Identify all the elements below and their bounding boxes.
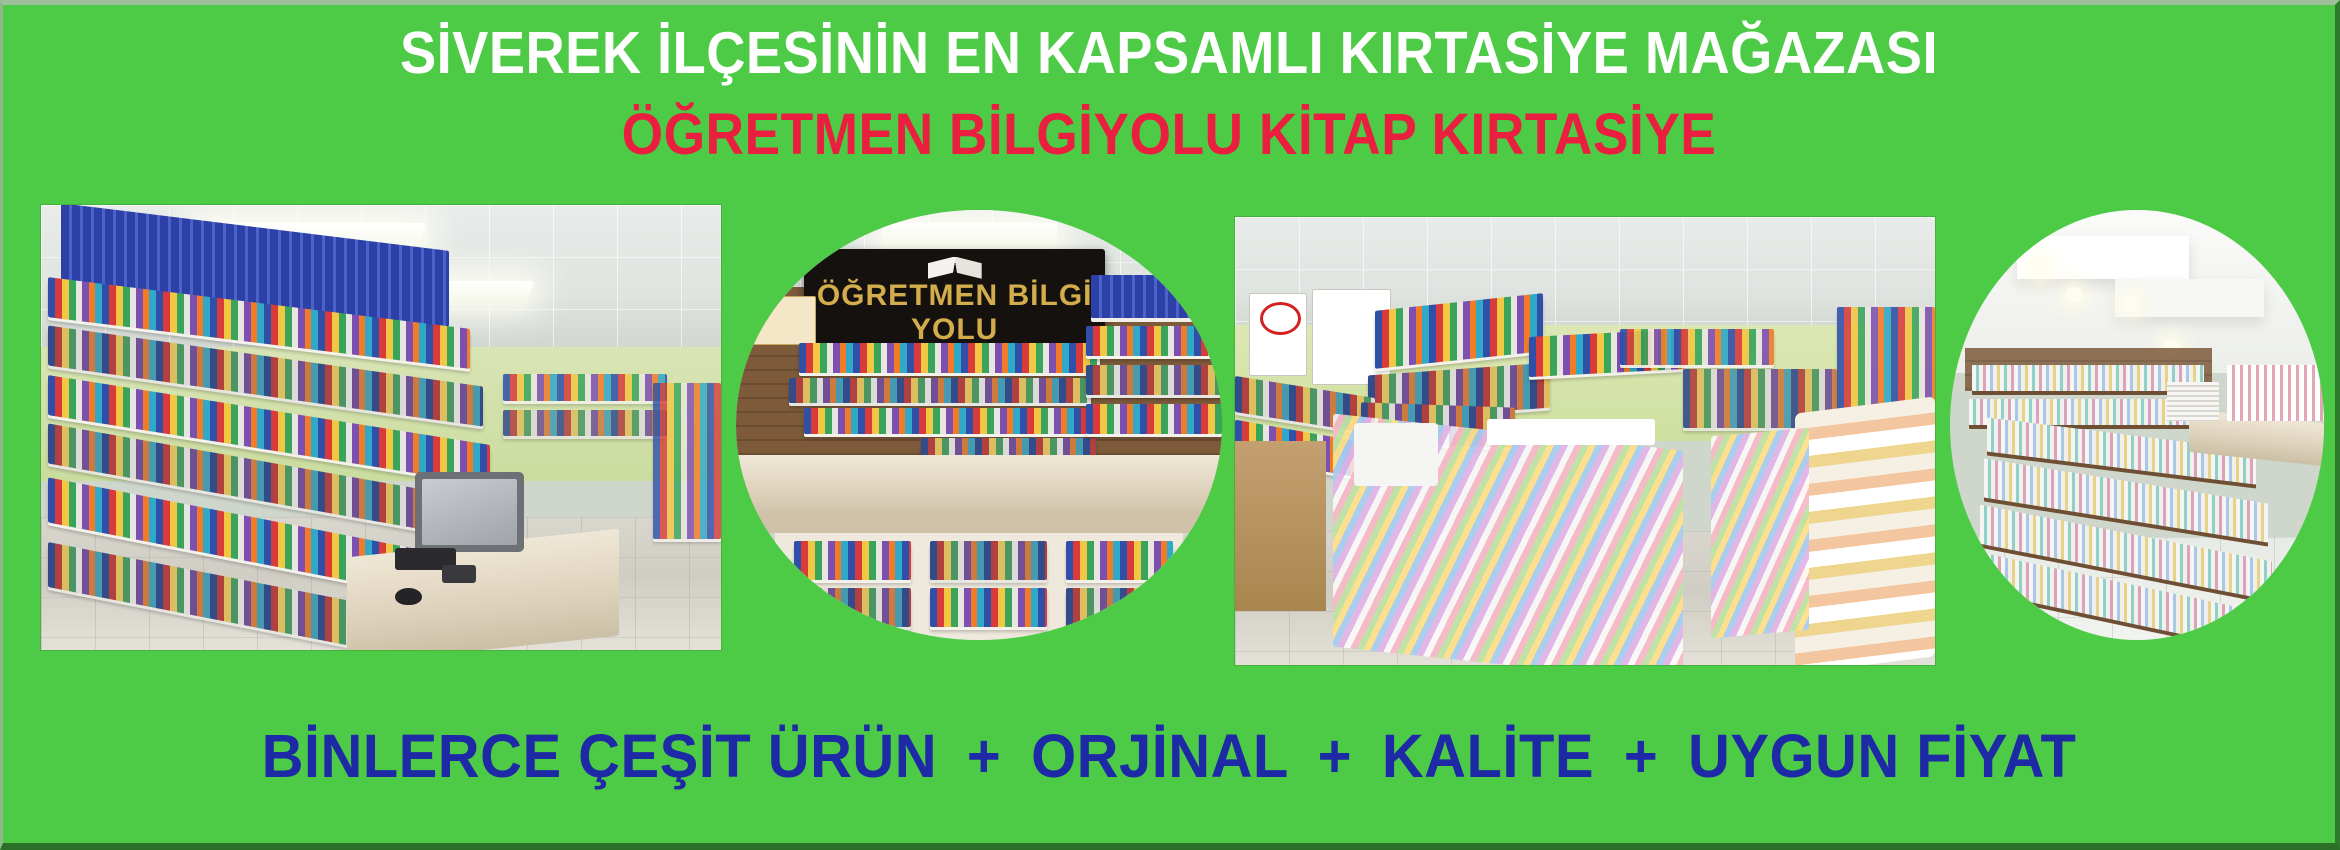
headline-block: SİVEREK İLÇESİNİN EN KAPSAMLI KIRTASİYE … [3,5,2335,166]
shelf-band [1086,326,1222,356]
service-counter [736,455,1222,520]
bottle-row [930,588,1047,627]
photo-store-sign: ÖĞRETMEN BİLGİ YOLU KİTAP & KIRTASİYE [736,210,1222,640]
photo-bookstore [1950,210,2324,640]
shelf-band [789,378,1090,404]
tagline: BİNLERCE ÇEŞİT ÜRÜN + ORJİNAL + KALİTE +… [61,721,2276,791]
rack-header-sign [1487,419,1655,446]
shelf-band [48,542,470,650]
ceiling-light-icon [186,223,427,254]
tagline-item-1: BİNLERCE ÇEŞİT ÜRÜN [262,722,937,790]
no-smoking-icon [1260,302,1301,335]
shelf-band [1235,420,1375,481]
book-shelf [1972,365,2204,391]
floor [41,517,721,651]
floor [1950,537,2324,640]
hanging-product-rack [1333,414,1683,665]
counter-edge [736,511,1222,533]
plush-toy-rack [1795,397,1935,665]
spot-light-icon [2163,339,2179,355]
shelf-band [921,438,1096,460]
shelf-band [1620,329,1774,365]
spot-light-icon [2032,262,2048,278]
shelf-band [1375,293,1543,369]
ceiling [736,210,1222,313]
info-board [1312,289,1391,385]
ceiling-panel [2115,279,2265,318]
book-shelf [1969,399,2208,425]
shelf-band [1837,307,1935,441]
shelf-band [1529,329,1683,377]
framed-picture [751,296,816,345]
wall [1235,325,1935,441]
wall [41,347,721,481]
ceiling [1235,217,1935,342]
spot-light-icon [2066,287,2082,303]
photo-aisle-right [1235,217,1935,665]
binder-row [61,205,449,327]
spot-light-icon [2122,296,2138,312]
shelf-band [48,326,483,427]
store-sign-line-1: ÖĞRETMEN BİLGİ YOLU [804,279,1105,344]
card-terminal-icon [442,565,476,583]
book-shelf [1980,504,2272,599]
ceiling-panel [2017,236,2189,279]
tagline-separator: + [1611,722,1672,790]
card-terminal-icon [395,548,456,570]
store-sign-board: ÖĞRETMEN BİLGİ YOLU KİTAP & KIRTASİYE [804,249,1105,344]
standing-books [2227,365,2324,421]
bottle-row [930,541,1047,580]
pos-monitor-icon [415,472,524,552]
photo-aisle-left [41,205,721,650]
floor [1235,531,1935,665]
hanging-product-rack [1711,428,1809,638]
wood-wall [736,287,1222,493]
bottle-row [1066,588,1173,627]
tagline-separator: + [1304,722,1365,790]
shelf-band [48,424,497,543]
advertisement-banner: SİVEREK İLÇESİNİN EN KAPSAMLI KIRTASİYE … [0,0,2340,850]
book-shelf [1987,417,2256,484]
shelf-band [503,410,666,437]
binder-row [1091,275,1222,318]
wood-wall [1965,348,2212,391]
shelf-band [48,277,470,369]
no-smoking-notice [1249,293,1307,376]
shelf-band [799,343,1100,373]
mouse-icon [395,588,422,606]
tagline-separator: + [954,722,1015,790]
book-counter [2189,409,2324,466]
shelf-band [1235,376,1375,434]
lampshade [1354,423,1438,486]
shelf-band [1086,365,1222,395]
bottle-row [794,588,911,627]
store-name-title: ÖĞRETMEN BİLGİYOLU KİTAP KIRTASİYE [96,85,2241,166]
shelf-band [653,383,721,539]
ceiling-light-icon [882,223,1057,249]
stacked-books [2167,382,2219,421]
ceiling [1950,210,2324,373]
shelf-band [1361,402,1515,448]
shelf-band [804,408,1096,434]
bottle-row [794,541,911,580]
page-title: SİVEREK İLÇESİNİN EN KAPSAMLI KIRTASİYE … [96,5,2241,85]
ceiling-light-icon [377,281,534,303]
bottle-row [1066,541,1173,580]
shelf-band [1683,369,1837,427]
tagline-item-3: KALİTE [1382,722,1594,790]
shelf-band [48,375,490,485]
shelf-band [503,374,666,401]
book-shelf [1984,458,2268,542]
open-book-icon [928,257,982,279]
shelf-band [48,477,497,609]
tagline-item-2: ORJİNAL [1031,722,1288,790]
display-cubbies [775,533,1183,641]
shelf-band [1086,404,1222,434]
book-shelf [1987,554,2271,640]
ceiling [41,205,721,356]
tagline-item-4: UYGUN FİYAT [1688,722,2076,790]
checkout-counter [347,529,619,650]
shelf-band [1368,363,1550,421]
wooden-endcap [1235,441,1326,611]
